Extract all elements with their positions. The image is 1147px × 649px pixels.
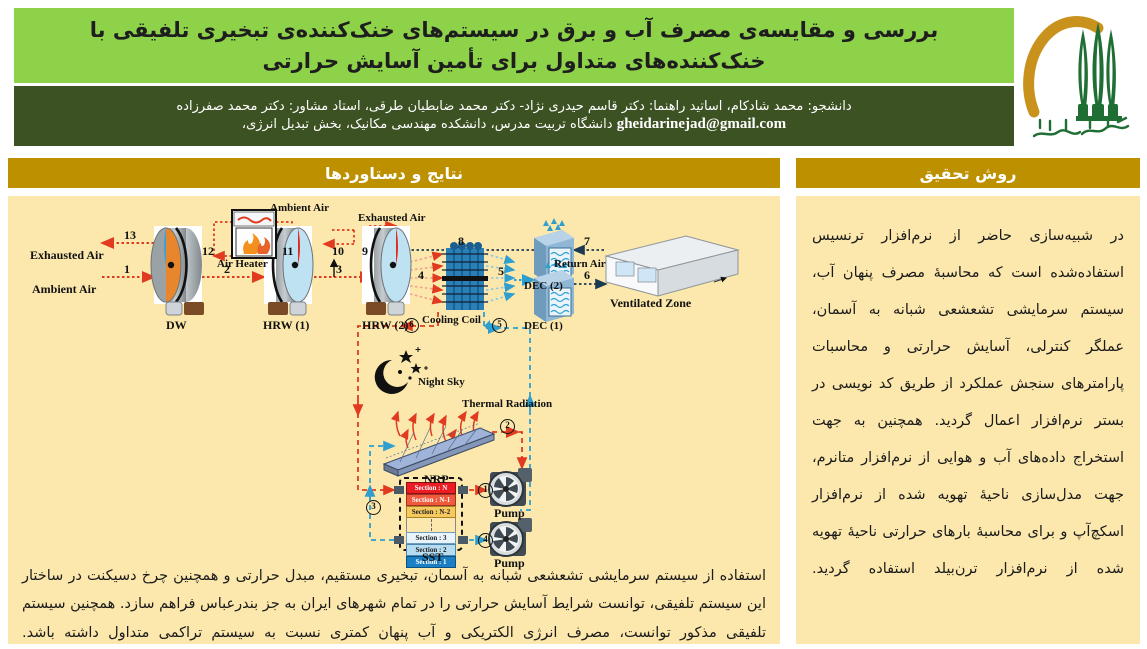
- heat-recovery-wheel-2: [362, 226, 411, 315]
- sst-ellipsis: [406, 518, 456, 532]
- author-line-supervisors: دانشجو: محمد شادکام، اساتید راهنما: دکتر…: [176, 99, 851, 114]
- author-bar: دانشجو: محمد شادکام، اساتید راهنما: دکتر…: [14, 86, 1014, 146]
- label-ventilated-zone: Ventilated Zone: [610, 296, 691, 311]
- university-logo: [1020, 4, 1142, 148]
- water-node-6: 6: [404, 318, 419, 333]
- title-line-1: بررسی و مقایسه‌ی مصرف آب و برق در سیستم‌…: [90, 15, 938, 45]
- pump-1-icon: [489, 468, 532, 506]
- pump-2-icon: [489, 518, 532, 556]
- system-schematic-diagram: Section : N Section : N-1 Section : N-2 …: [14, 200, 774, 560]
- ventilated-zone-icon: [606, 236, 738, 296]
- label-dec2: DEC (2): [524, 280, 563, 292]
- tarbiat-modares-logo-icon: [1020, 4, 1142, 148]
- section-header-method: روش تحقیق: [796, 158, 1140, 188]
- label-return-air: Return Air: [554, 258, 606, 270]
- stream-number-9: 9: [362, 244, 368, 259]
- poster-header: بررسی و مقایسه‌ی مصرف آب و برق در سیستم‌…: [0, 0, 1147, 152]
- desiccant-wheel: [151, 226, 204, 315]
- stream-number-5: 5: [498, 264, 504, 279]
- label-ambient-air-mid: Ambient Air: [270, 202, 329, 214]
- author-line-affiliation: gheidarinejad@gmail.com دانشگاه تربیت مد…: [242, 116, 786, 133]
- air-heater-icon: [232, 210, 276, 258]
- stream-number-7: 7: [584, 234, 590, 249]
- label-hrw2: HRW (2): [362, 318, 408, 333]
- sst-section-n2: Section : N-2: [406, 506, 456, 518]
- water-node-3: 3: [366, 500, 381, 515]
- label-hrw1: HRW (1): [263, 318, 309, 333]
- label-exhausted-air-mid: Exhausted Air: [358, 212, 426, 224]
- label-pump-1: Pump: [494, 506, 525, 521]
- section-header-results-label: نتایج و دستاوردها: [325, 164, 463, 183]
- contact-email[interactable]: gheidarinejad@gmail.com: [617, 116, 786, 133]
- poster-root: بررسی و مقایسه‌ی مصرف آب و برق در سیستم‌…: [0, 0, 1147, 649]
- water-node-4: 4: [478, 533, 493, 548]
- stream-number-6: 6: [584, 268, 590, 283]
- stream-number-10: 10: [332, 244, 344, 259]
- stream-number-12: 12: [202, 244, 214, 259]
- affiliation-text: دانشگاه تربیت مدرس، دانشکده مهندسی مکانی…: [242, 117, 613, 132]
- label-dw: DW: [166, 318, 187, 333]
- page-title: بررسی و مقایسه‌ی مصرف آب و برق در سیستم‌…: [78, 15, 950, 76]
- label-cooling-coil: Cooling Coil: [422, 314, 481, 326]
- sst-section-n1: Section : N-1: [406, 494, 456, 506]
- label-exhausted-air-left: Exhausted Air: [30, 248, 104, 263]
- stream-number-8: 8: [458, 234, 464, 249]
- title-line-2: خنک‌کننده‌های متداول برای تأمین آسایش حر…: [90, 46, 938, 76]
- schematic-svg: [14, 200, 774, 560]
- label-dec1: DEC (1): [524, 320, 563, 332]
- label-ambient-air-left: Ambient Air: [32, 282, 96, 297]
- results-caption: استفاده از سیستم سرمایشی تشعشعی شبانه به…: [22, 562, 766, 647]
- method-body-text: در شبیه‌سازی حاضر از نرم‌افزار ترنسیس اس…: [812, 218, 1124, 588]
- nrp-panel-icon: [384, 423, 494, 476]
- label-night-sky: Night Sky: [418, 376, 465, 388]
- results-panel: Section : N Section : N-1 Section : N-2 …: [8, 196, 780, 644]
- sst-section-3: Section : 3: [406, 532, 456, 544]
- stream-number-4: 4: [418, 268, 424, 283]
- label-nrp: NRP: [424, 472, 449, 487]
- stream-number-11: 11: [282, 244, 293, 259]
- water-node-1: 1: [478, 483, 493, 498]
- poster-title-bar: بررسی و مقایسه‌ی مصرف آب و برق در سیستم‌…: [14, 8, 1014, 85]
- cooling-coil-icon: [442, 242, 488, 310]
- water-node-5: 5: [492, 318, 507, 333]
- stream-number-2: 2: [224, 262, 230, 277]
- stream-number-3: 3: [336, 262, 342, 277]
- stream-number-13: 13: [124, 228, 136, 243]
- stream-number-1: 1: [124, 262, 130, 277]
- label-thermal-radiation: Thermal Radiation: [462, 398, 552, 410]
- section-header-results: نتایج و دستاوردها: [8, 158, 780, 188]
- method-panel: در شبیه‌سازی حاضر از نرم‌افزار ترنسیس اس…: [796, 196, 1140, 644]
- water-node-2: 2: [500, 419, 515, 434]
- section-header-method-label: روش تحقیق: [920, 164, 1017, 183]
